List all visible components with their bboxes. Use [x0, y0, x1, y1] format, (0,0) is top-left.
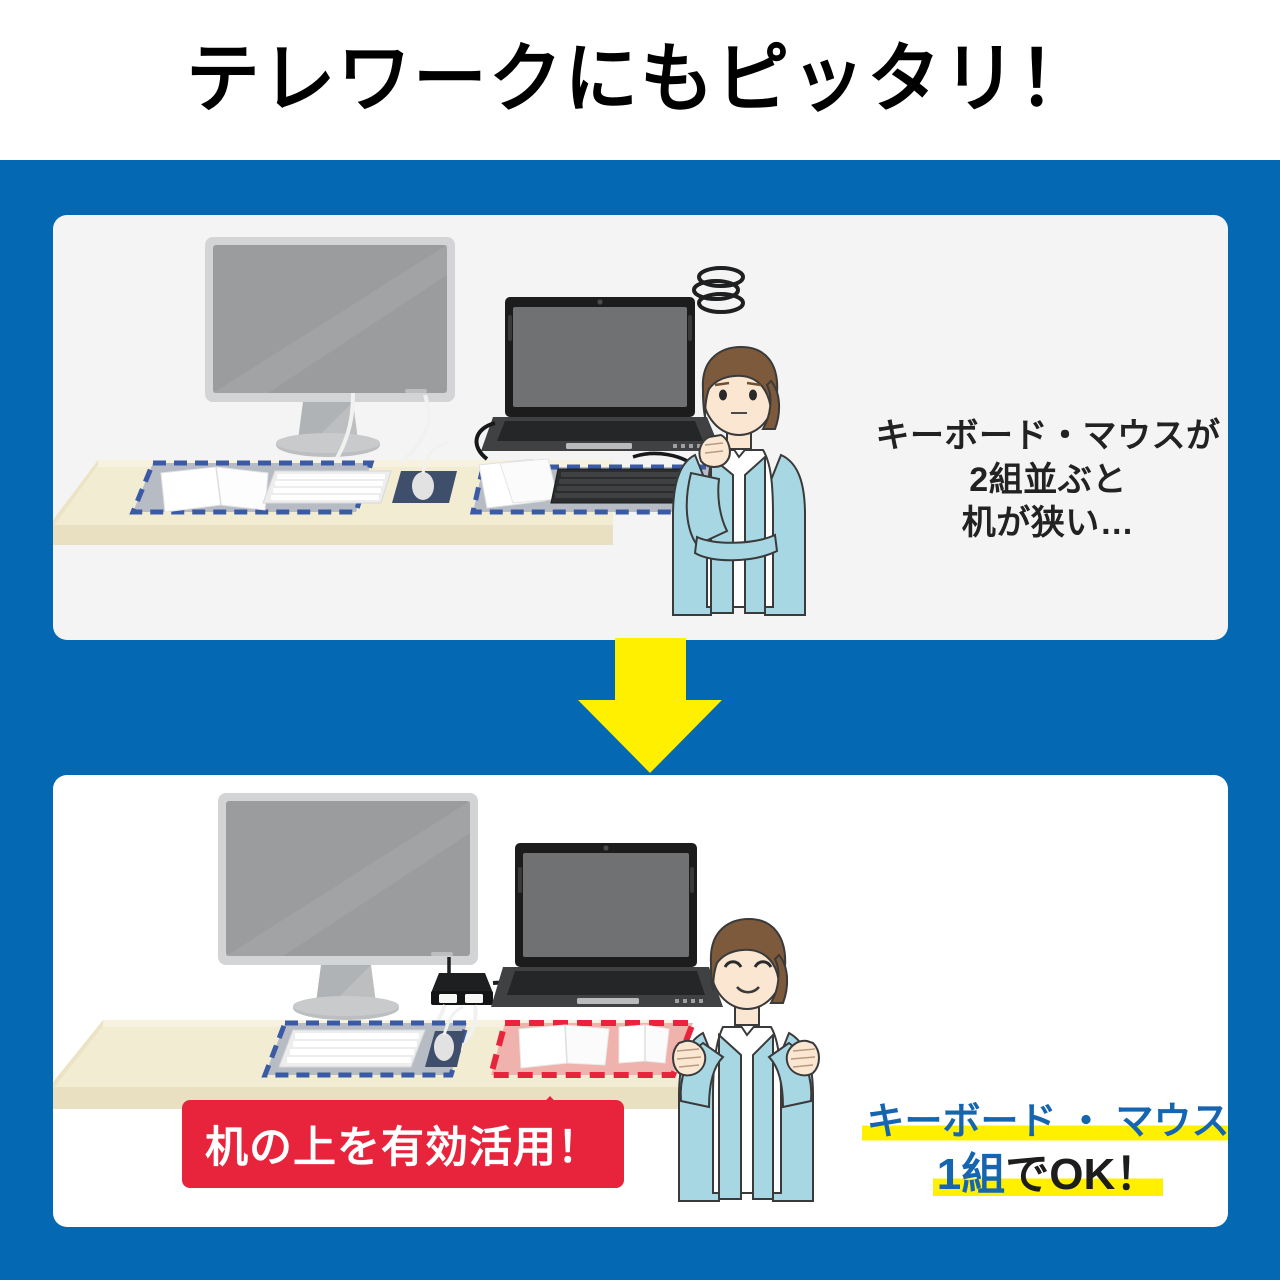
arrow-shaft [615, 638, 686, 708]
down-arrow-icon [578, 638, 723, 773]
callout-line-3: 机が狭い… [848, 502, 1228, 546]
before-panel: キーボード・マウスが 2組並ぶと 机が狭い… [53, 215, 1228, 640]
page-title: テレワークにもピッタリ！ [186, 42, 1094, 118]
person-cheering [653, 915, 838, 1227]
arrow-head [578, 700, 722, 773]
after-callout-line-2: 1組でOK！ [838, 1149, 1228, 1201]
monitor-before [205, 237, 455, 457]
callout-line-2: 2組並ぶと [848, 459, 1228, 503]
header: テレワークにもピッタリ！ [0, 0, 1280, 160]
after-callout: キーボード ・ マウス 1組でOK！ [838, 1100, 1228, 1201]
infographic-root: テレワークにもピッタリ！ [0, 0, 1280, 1280]
status-badge: 机の上を有効活用！ [182, 1100, 624, 1188]
badge-label: 机の上を有効活用！ [205, 1113, 601, 1175]
callout-line-1: キーボード・マウスが [848, 415, 1228, 459]
cable-coil [694, 268, 743, 312]
person-thinking [653, 345, 828, 640]
before-callout: キーボード・マウスが 2組並ぶと 机が狭い… [848, 415, 1228, 546]
after-callout-line-1: キーボード ・ マウス [838, 1100, 1228, 1145]
